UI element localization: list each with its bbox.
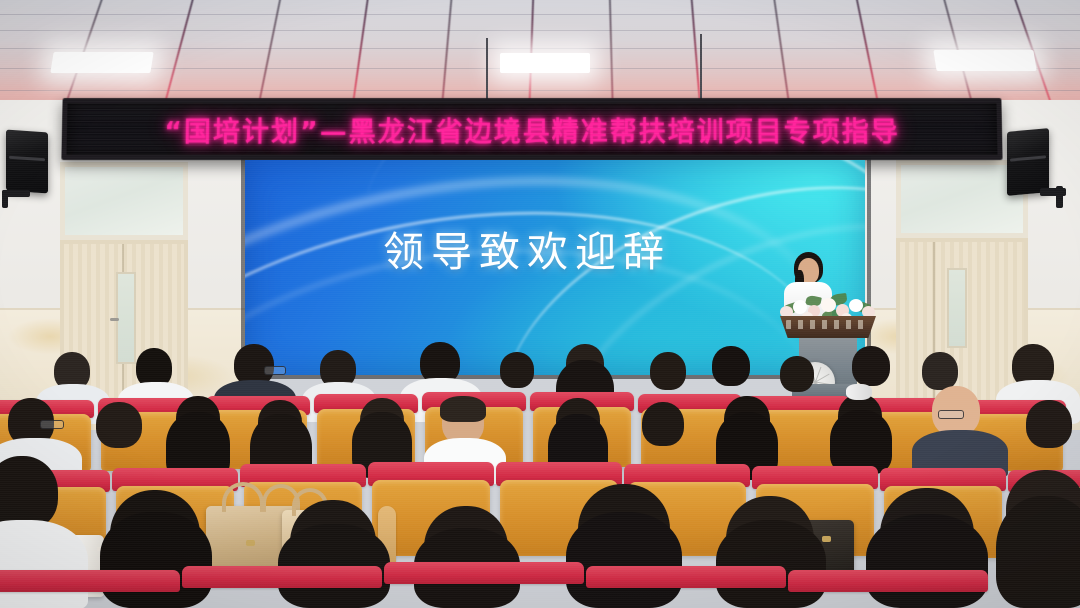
attendee-head — [852, 346, 890, 386]
auditorium-seat[interactable] — [0, 570, 180, 608]
bag-clasp — [822, 536, 831, 542]
loudspeaker-right — [1007, 128, 1049, 196]
ceiling-light — [500, 53, 590, 73]
door-handle-left[interactable] — [110, 318, 119, 321]
banner-hanger — [486, 38, 488, 100]
eyeglasses — [264, 366, 286, 375]
door-vision-panel-left — [116, 272, 136, 364]
attendee-hair — [996, 496, 1080, 608]
led-banner-text: “国培计划”—黑龙江省边境县精准帮扶培训项目专项指导 — [164, 110, 900, 149]
door-right[interactable] — [896, 160, 1028, 422]
attendee-head — [1026, 400, 1072, 448]
led-banner: “国培计划”—黑龙江省边境县精准帮扶培训项目专项指导 — [61, 98, 1002, 160]
attendee-head — [922, 352, 958, 390]
ceiling-light — [50, 52, 153, 73]
attendee-head — [642, 402, 684, 446]
ceiling-light — [933, 50, 1036, 71]
auditorium-seat[interactable] — [384, 562, 584, 608]
attendee-hair — [440, 396, 486, 422]
banner-hanger — [700, 34, 702, 100]
loudspeaker-left — [6, 130, 48, 194]
photo-scene: “国培计划”—黑龙江省边境县精准帮扶培训项目专项指导 领导致欢迎辞 — [0, 0, 1080, 608]
podium-carving — [786, 320, 870, 329]
speaker-bracket-right-post — [1056, 186, 1063, 208]
auditorium-seat[interactable] — [788, 570, 988, 608]
eyeglasses — [40, 420, 64, 429]
attendee-hair — [830, 410, 892, 474]
auditorium-seat[interactable] — [182, 566, 382, 608]
hair-bow — [846, 384, 872, 400]
eyeglasses — [938, 410, 964, 419]
speaker-bracket-left-post — [2, 190, 8, 208]
attendee-head — [780, 356, 814, 392]
attendee-head — [650, 352, 686, 390]
auditorium-seat[interactable] — [586, 566, 786, 608]
door-vision-panel-right — [947, 268, 967, 348]
transom-window-left — [60, 162, 188, 240]
attendee-head — [712, 346, 750, 386]
attendee-head — [96, 402, 142, 448]
attendee-head — [500, 352, 534, 388]
screen-frame — [241, 156, 871, 379]
attendee-head — [0, 456, 58, 530]
